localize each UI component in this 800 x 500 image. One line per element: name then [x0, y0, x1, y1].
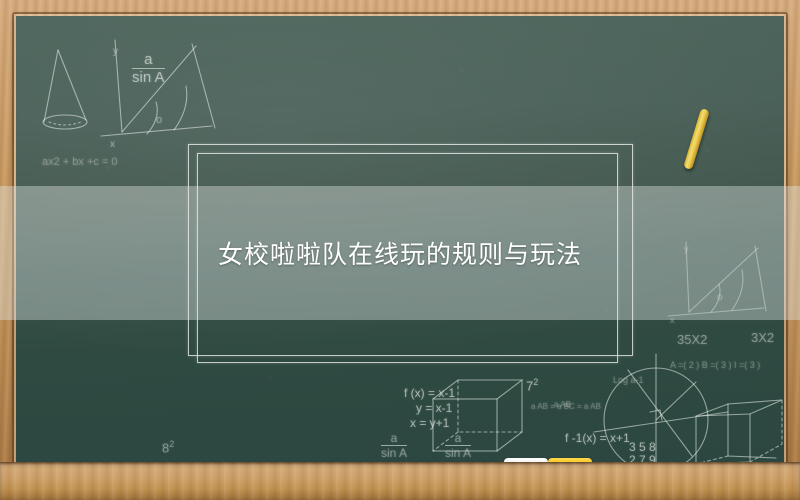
- angle-label-topleft: o: [156, 114, 162, 126]
- matrix-row-expression: A =( 2 ) B =( 3 ) I =( 3 ): [670, 360, 760, 370]
- sum-row-1: 3 5 8: [629, 440, 656, 454]
- cone-sketch: [43, 50, 87, 129]
- axis-label-y-topleft: y: [113, 46, 118, 57]
- faint-expression-right: a AB: [554, 400, 571, 409]
- matrix-label-35x2: 35X2: [677, 332, 707, 347]
- fraction-a-over-sina-bottomleft: a sin A: [381, 432, 407, 460]
- cube-sketch-right: [696, 400, 782, 462]
- angle-axes-sketch-left: [101, 40, 215, 136]
- chalk-tray: [0, 462, 800, 500]
- cube-sketch-center: [433, 380, 522, 451]
- axis-label-x-topleft: x: [110, 139, 115, 150]
- exponent-eight-squared: 82: [162, 439, 174, 455]
- inverse-function-expression: f -1(x) = x+1: [565, 431, 630, 445]
- function-line-1: f (x) = x-1: [404, 386, 455, 400]
- sum-row-2: 2 7 9: [629, 453, 656, 462]
- fraction-a-over-sina-bottomcenter: a sin A: [445, 432, 471, 460]
- function-line-3: x = y+1: [410, 416, 449, 430]
- page-title: 女校啦啦队在线玩的规则与玩法: [218, 235, 582, 271]
- circle-diagram-sketch: [594, 354, 728, 462]
- matrix-label-3x2: 3X2: [751, 330, 774, 345]
- exponent-seven-squared: 72: [526, 377, 538, 393]
- yellow-chalk-stick-icon: [683, 108, 710, 170]
- faint-expression-center: a AB = a BC = a AB: [531, 402, 601, 411]
- fraction-a-over-sina-topleft: a sin A: [132, 52, 165, 86]
- log-label: Log a-1: [613, 375, 644, 385]
- chalkboard-banner: a sin A y x o ax2 + bx +c = 0 y x o f (x…: [0, 0, 800, 500]
- quadratic-equation: ax2 + bx +c = 0: [42, 156, 118, 168]
- function-line-2: y = x-1: [416, 401, 452, 415]
- title-overlay-band: 女校啦啦队在线玩的规则与玩法: [0, 186, 800, 320]
